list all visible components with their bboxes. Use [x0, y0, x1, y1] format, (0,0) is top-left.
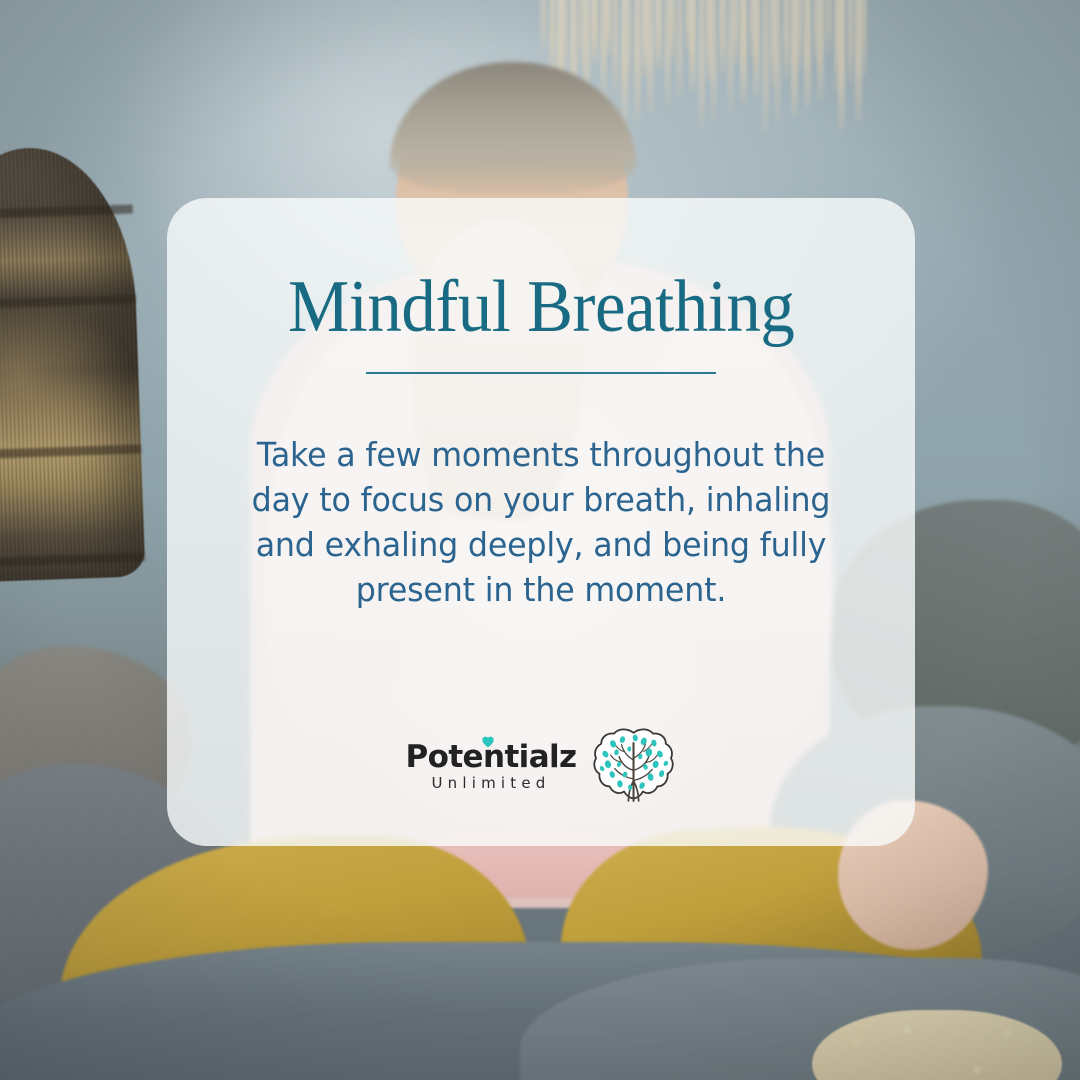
macrame-strand	[561, 0, 568, 81]
macrame-strand	[847, 0, 854, 85]
heart-dot-icon	[482, 736, 495, 748]
macrame-strand	[753, 0, 760, 96]
macrame-strand	[710, 0, 717, 120]
macrame-strand	[719, 0, 726, 75]
macrame-strand	[783, 0, 790, 80]
content-card: Mindful Breathing Take a few moments thr…	[167, 198, 915, 846]
body-paragraph: Take a few moments throughout the day to…	[243, 374, 838, 612]
macrame-strand	[860, 0, 867, 77]
macrame-strand	[655, 0, 662, 70]
macrame-strand	[676, 0, 683, 99]
brand-logo[interactable]: Potentialz Unlimited	[406, 726, 677, 806]
macrame-strand	[668, 0, 675, 62]
brain-with-tree-icon	[590, 726, 676, 806]
page-title: Mindful Breathing	[288, 198, 794, 344]
macrame-strand	[732, 0, 739, 67]
macrame-strand	[591, 0, 598, 65]
macrame-strand	[774, 0, 781, 125]
macrame-strand	[634, 0, 641, 123]
macrame-strand	[740, 0, 747, 104]
brand-tagline: Unlimited	[406, 776, 577, 791]
macrame-strand	[825, 0, 832, 56]
lamp-glow	[0, 300, 130, 450]
macrame-strand	[838, 0, 845, 130]
macrame-strand	[796, 0, 803, 72]
macrame-strand	[698, 0, 705, 128]
macrame-strand	[689, 0, 696, 91]
macrame-strand	[604, 0, 611, 57]
macrame-strand	[625, 0, 632, 86]
macrame-strand	[612, 0, 619, 94]
macrame-strand	[804, 0, 811, 109]
macrame-strand	[540, 0, 547, 52]
poster-canvas: Mindful Breathing Take a few moments thr…	[0, 0, 1080, 1080]
macrame-strand	[647, 0, 654, 115]
brand-logo-text: Potentialz Unlimited	[406, 742, 577, 791]
macrame-strand	[817, 0, 824, 101]
macrame-strand	[762, 0, 769, 133]
